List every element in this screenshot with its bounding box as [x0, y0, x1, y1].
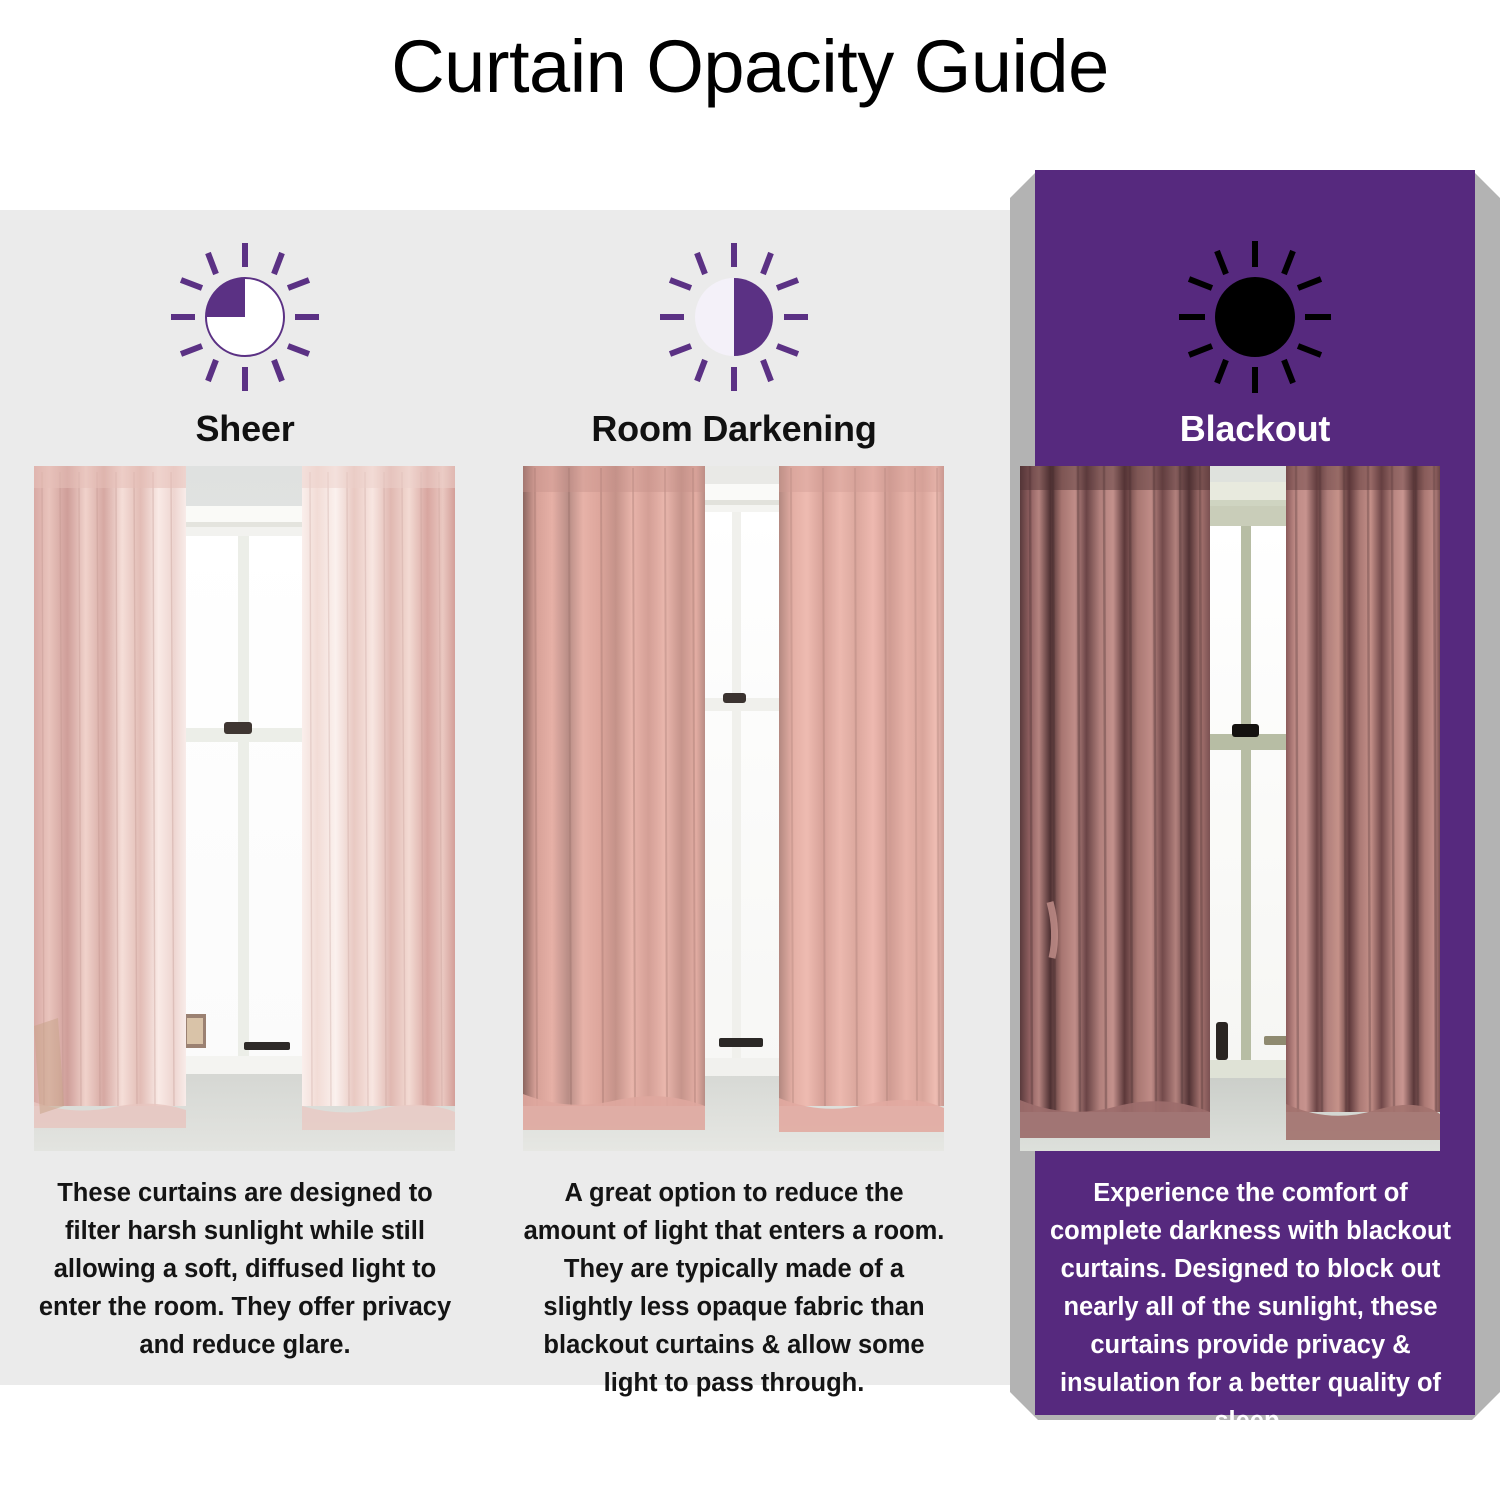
cards-container: Sheer: [0, 0, 1500, 1500]
card-description-room-darkening: A great option to reduce the amount of l…: [519, 1175, 949, 1403]
sun-half-icon: [489, 224, 979, 409]
curtain-opacity-guide-page: Curtain Opacity Guide: [0, 0, 1500, 1500]
card-heading-sheer: Sheer: [0, 408, 490, 450]
sun-full-icon: [1010, 224, 1500, 409]
card-description-sheer: These curtains are designed to filter ha…: [28, 1175, 462, 1365]
card-heading-room-darkening: Room Darkening: [489, 408, 979, 450]
card-heading-blackout: Blackout: [1010, 408, 1500, 450]
sun-quarter-icon: [0, 224, 490, 409]
photo-sheer: [34, 466, 455, 1151]
photo-blackout: [1020, 466, 1440, 1151]
photo-room-darkening: [523, 466, 944, 1151]
card-description-blackout: Experience the comfort of complete darkn…: [1038, 1175, 1463, 1441]
